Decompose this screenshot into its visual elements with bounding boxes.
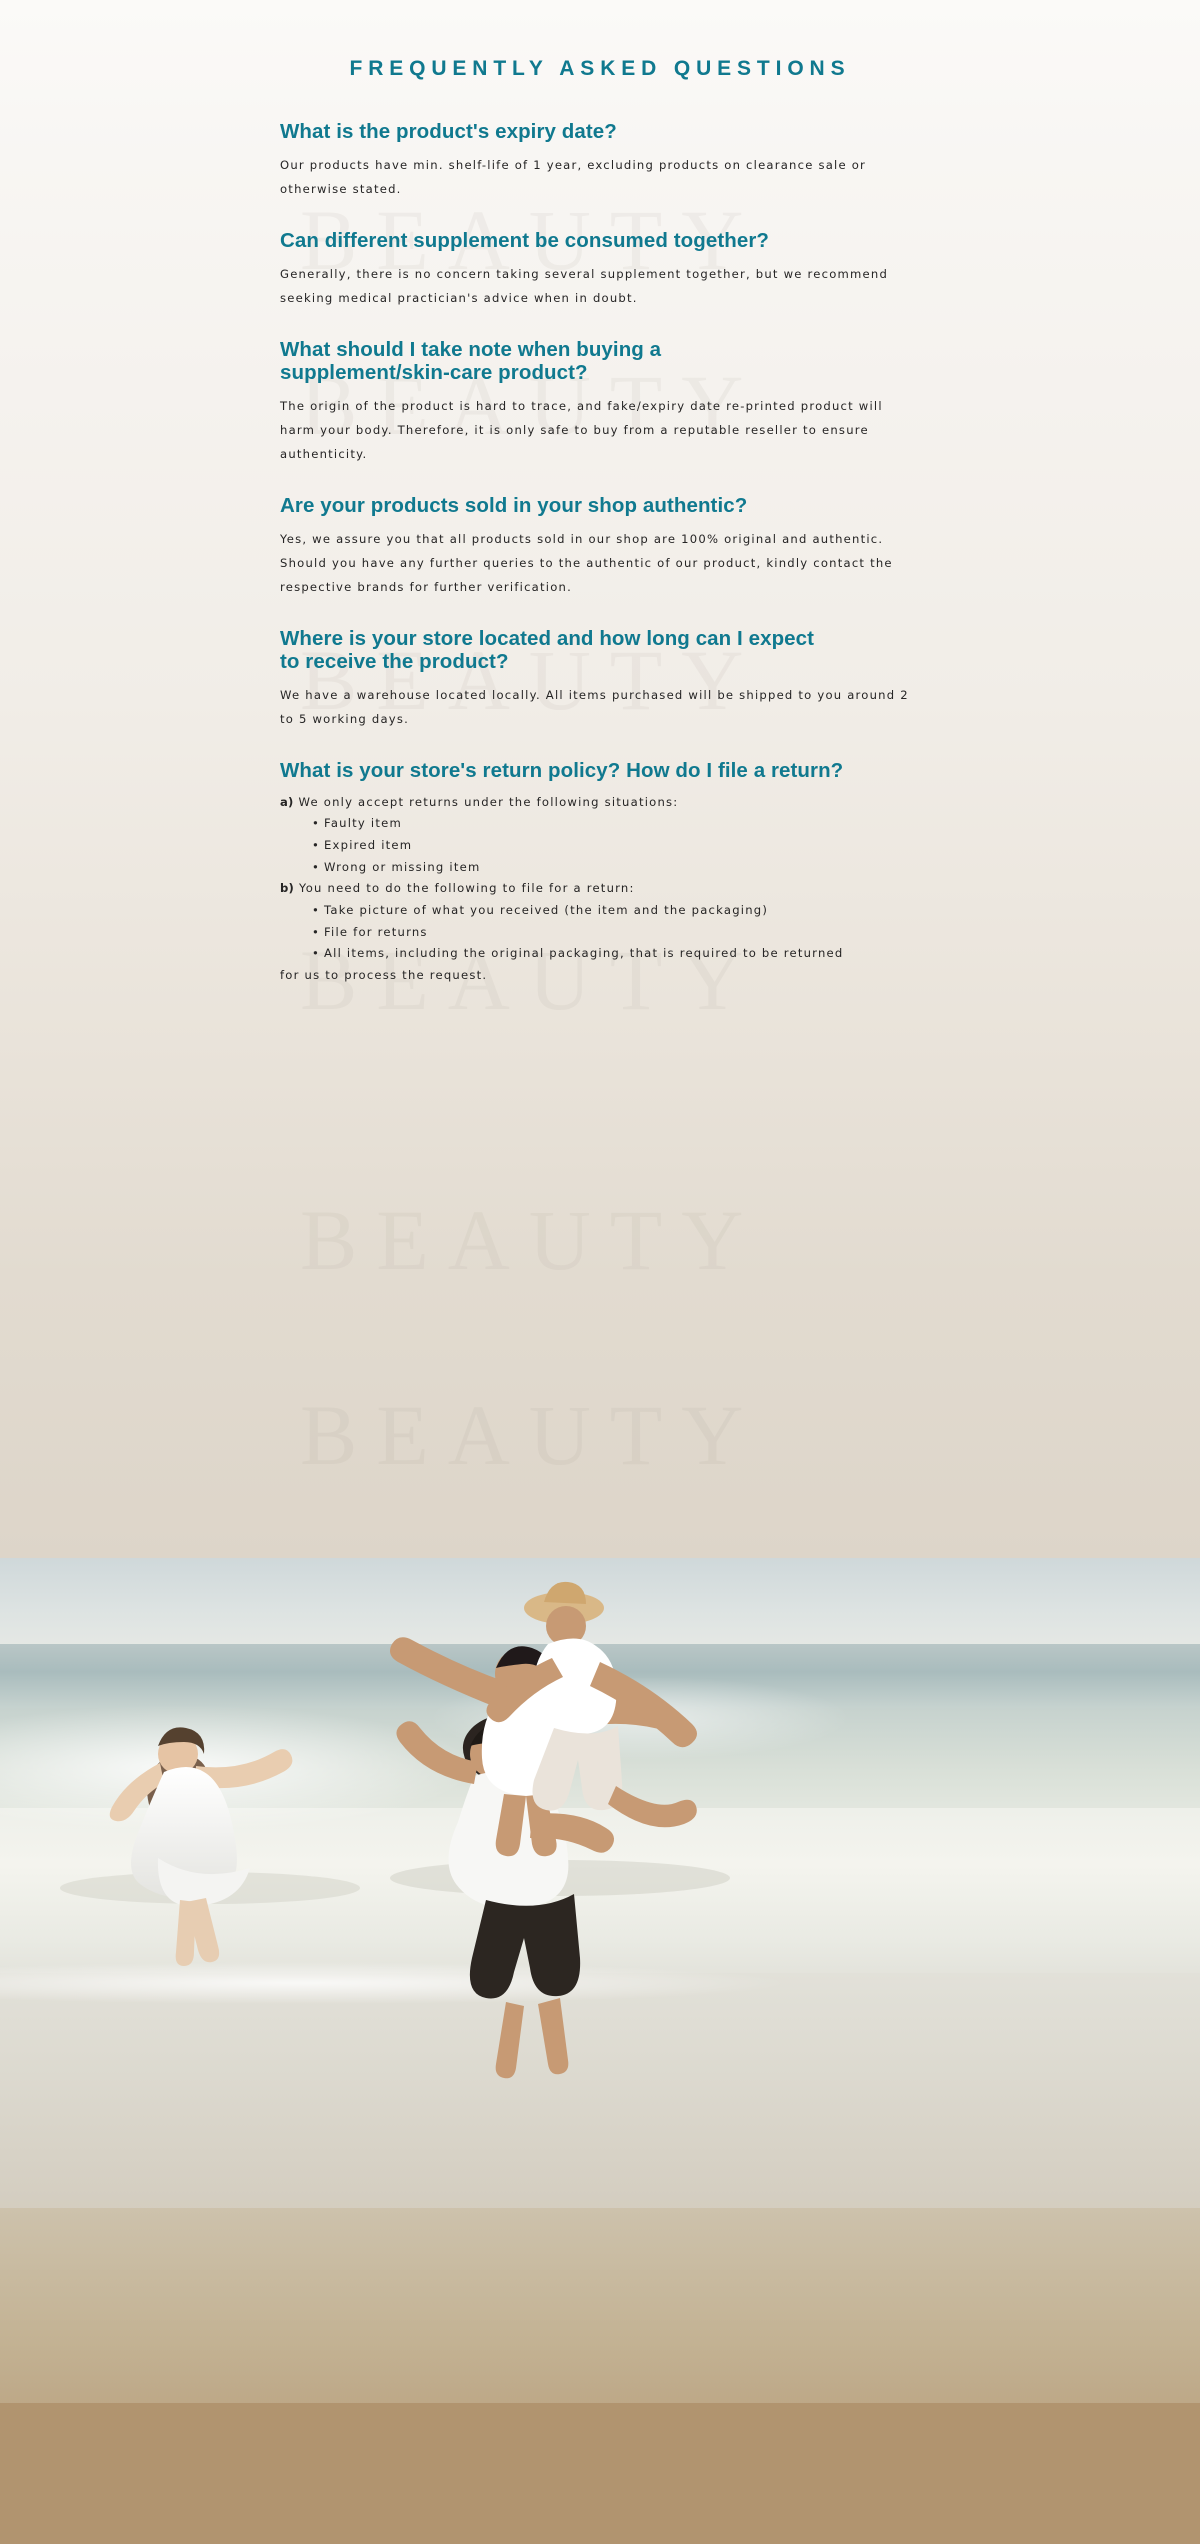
faq-list: What is the product's expiry date? Our p…	[280, 81, 920, 987]
faq-item: Are your products sold in your shop auth…	[280, 494, 920, 600]
list-item: Wrong or missing item	[312, 857, 920, 879]
beauty-watermark: BEAUTY	[300, 1385, 762, 1485]
returns-group-b-label: b)	[280, 881, 294, 895]
faq-answer: Generally, there is no concern taking se…	[280, 263, 920, 311]
faq-item: Where is your store located and how long…	[280, 627, 920, 732]
returns-tail: for us to process the request.	[280, 965, 920, 987]
faq-promo-page: BEAUTY BEAUTY BEAUTY BEAUTY BEAUTY BEAUT…	[0, 0, 1200, 2544]
faq-section-title: FREQUENTLY ASKED QUESTIONS	[0, 0, 1200, 81]
faq-item: What is the product's expiry date? Our p…	[280, 120, 920, 202]
faq-answer: Our products have min. shelf-life of 1 y…	[280, 154, 920, 202]
faq-question: Are your products sold in your shop auth…	[280, 494, 920, 517]
returns-group-a: a) We only accept returns under the foll…	[280, 792, 920, 814]
family-silhouettes	[0, 1558, 1200, 2544]
list-item: Faulty item	[312, 813, 920, 835]
returns-group-b-text: You need to do the following to file for…	[299, 881, 635, 895]
list-item: Take picture of what you received (the i…	[312, 900, 920, 922]
list-item: Expired item	[312, 835, 920, 857]
returns-instructions: a) We only accept returns under the foll…	[280, 792, 920, 987]
faq-question: What should I take note when buying a su…	[280, 338, 920, 384]
list-item: File for returns	[312, 922, 920, 944]
faq-question: Where is your store located and how long…	[280, 627, 920, 673]
list-item: All items, including the original packag…	[312, 943, 920, 965]
returns-group-a-text: We only accept returns under the followi…	[299, 795, 679, 809]
faq-item: Can different supplement be consumed tog…	[280, 229, 920, 311]
faq-question: What is your store's return policy? How …	[280, 759, 920, 782]
faq-item: What should I take note when buying a su…	[280, 338, 920, 467]
returns-group-a-label: a)	[280, 795, 294, 809]
faq-item-returns: What is your store's return policy? How …	[280, 759, 920, 987]
faq-question: Can different supplement be consumed tog…	[280, 229, 920, 252]
girl-figure	[110, 1727, 293, 1966]
beach-family-photo: ★★★★★ Leave us a 5-stars Review and be r…	[0, 1558, 1200, 2544]
returns-group-b: b) You need to do the following to file …	[280, 878, 920, 900]
faq-question: What is the product's expiry date?	[280, 120, 920, 143]
beauty-watermark: BEAUTY	[300, 1190, 762, 1290]
faq-answer: We have a warehouse located locally. All…	[280, 684, 920, 732]
faq-section: BEAUTY BEAUTY BEAUTY BEAUTY BEAUTY BEAUT…	[0, 0, 1200, 1558]
faq-answer: Yes, we assure you that all products sol…	[280, 528, 920, 600]
returns-group-b-list: Take picture of what you received (the i…	[280, 900, 920, 965]
bottom-sand-strip	[0, 2403, 1200, 2544]
faq-answer: The origin of the product is hard to tra…	[280, 395, 920, 467]
returns-group-a-list: Faulty item Expired item Wrong or missin…	[280, 813, 920, 878]
